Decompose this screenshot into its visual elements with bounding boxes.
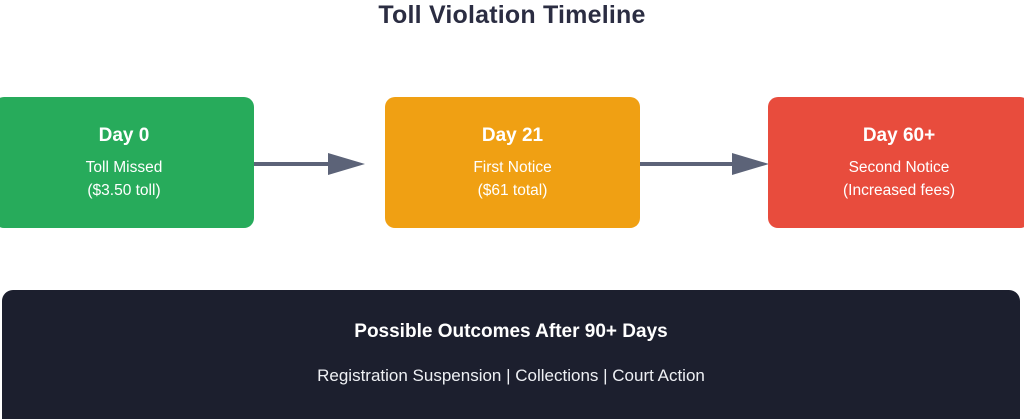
flow-arrow-icon: [254, 148, 366, 180]
outcomes-list: Registration Suspension | Collections | …: [2, 365, 1020, 387]
stage-event-label: First Notice: [473, 156, 551, 179]
timeline-stage-card-day-0: Day 0 Toll Missed ($3.50 toll): [0, 97, 254, 228]
possible-outcomes-banner: Possible Outcomes After 90+ Days Registr…: [2, 290, 1020, 419]
stage-amount-label: ($3.50 toll): [87, 179, 160, 202]
stage-day-label: Day 21: [482, 124, 543, 148]
stage-amount-label: (Increased fees): [843, 179, 955, 202]
stage-event-label: Second Notice: [849, 156, 950, 179]
page-title: Toll Violation Timeline: [0, 0, 1024, 30]
stage-amount-label: ($61 total): [478, 179, 548, 202]
stage-event-label: Toll Missed: [86, 156, 163, 179]
timeline-stage-card-day-60-plus: Day 60+ Second Notice (Increased fees): [768, 97, 1024, 228]
flow-arrow-icon: [640, 148, 770, 180]
timeline-stage-card-day-21: Day 21 First Notice ($61 total): [385, 97, 640, 228]
timeline-infographic: Toll Violation Timeline Day 0 Toll Misse…: [0, 0, 1024, 419]
stage-day-label: Day 60+: [863, 124, 935, 148]
outcomes-title: Possible Outcomes After 90+ Days: [2, 320, 1020, 344]
stage-day-label: Day 0: [99, 124, 150, 148]
